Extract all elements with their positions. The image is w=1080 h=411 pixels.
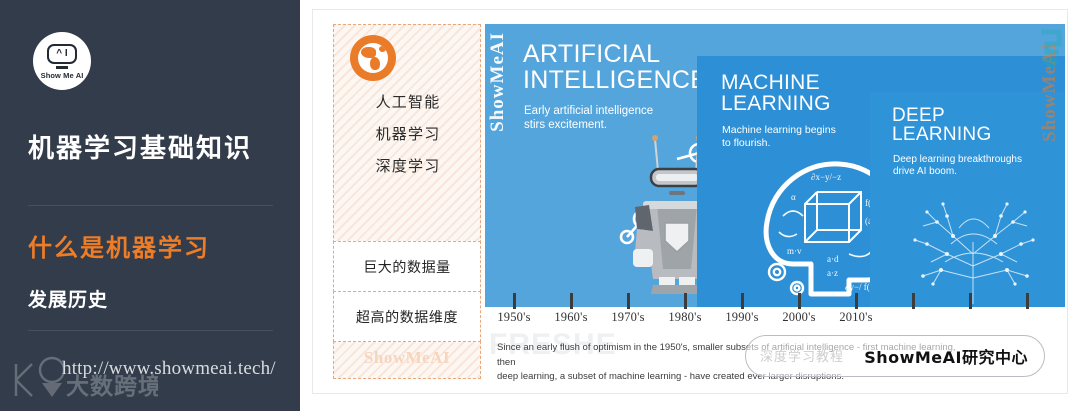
decade-label-1990s: 1990's [725, 310, 758, 325]
axis-tick [627, 293, 630, 309]
axis-tick [570, 293, 573, 309]
logo-eyes-label: ^ I [56, 49, 67, 59]
robot-face-icon: ^ I [47, 44, 77, 64]
concept-word-ai: 人工智能 [334, 91, 482, 112]
robot-mouth-icon [56, 66, 68, 69]
svg-text:∂x−y/−z: ∂x−y/−z [811, 172, 841, 182]
axis-tick [798, 293, 801, 309]
decade-label-1980s: 1980's [668, 310, 701, 325]
svg-text:m·v: m·v [787, 246, 802, 256]
concept-word-dl: 深度学习 [334, 155, 482, 176]
slide-canvas: 人工智能 机器学习 深度学习 巨大的数据量 超高的数据维度 ShowMeAI S… [300, 0, 1080, 411]
sidebar-item-sub-section[interactable]: 发展历史 [28, 285, 108, 312]
axis-tick [912, 293, 915, 309]
axis-tick [741, 293, 744, 309]
decade-axis: 1950's 1960's 1970's 1980's 1990's 2000'… [485, 293, 1065, 329]
site-url-label[interactable]: http://www.showmeai.tech/ [62, 358, 276, 380]
sidebar: ^ I Show Me AI 机器学习基础知识 什么是机器学习 发展历史 大数跨… [0, 0, 300, 411]
show-me-ai-logo[interactable]: ^ I Show Me AI [33, 32, 91, 90]
era-title-dl: DEEP LEARNING [892, 106, 992, 145]
decade-label-2000s: 2000's [782, 310, 815, 325]
era-title-ai: ARTIFICIAL INTELLIGENCE [523, 42, 707, 93]
era-title-ml: MACHINE LEARNING [721, 72, 831, 115]
svg-text:a·z: a·z [827, 268, 838, 278]
sidebar-divider-bottom [28, 330, 273, 331]
data-box-dimension: 超高的数据维度 [333, 291, 481, 342]
research-center-label: ShowMeAI研究中心 [864, 344, 1028, 368]
teal-corner-glyph-icon [1037, 26, 1063, 82]
data-box-volume: 巨大的数据量 [333, 241, 481, 292]
concept-column-watermark: ShowMeAI [333, 348, 481, 368]
watermark-left-showmeai: ShowMeAI [487, 32, 509, 132]
concept-word-ml: 机器学习 [334, 123, 482, 144]
svg-text:a·d: a·d [827, 254, 839, 264]
axis-tick [684, 293, 687, 309]
decade-label-1950s: 1950's [497, 310, 530, 325]
slide-frame: 人工智能 机器学习 深度学习 巨大的数据量 超高的数据维度 ShowMeAI S… [312, 9, 1068, 394]
sidebar-item-current-section[interactable]: 什么是机器学习 [28, 228, 210, 263]
logo-wordmark: Show Me AI [41, 71, 84, 80]
era-subtitle-dl: Deep learning breakthroughs drive AI boo… [893, 154, 1022, 178]
axis-tick [969, 293, 972, 309]
decade-label-2010s: 2010's [839, 310, 872, 325]
svg-text:α: α [791, 192, 796, 202]
neural-brain-icon [903, 192, 1043, 307]
research-center-badge[interactable]: 深度学习教程 ShowMeAI研究中心 [745, 335, 1045, 377]
sidebar-divider-top [28, 205, 273, 206]
decade-label-1960s: 1960's [554, 310, 587, 325]
globe-icon [350, 35, 396, 81]
badge-ghost-label: 深度学习教程 [760, 346, 844, 365]
decade-label-1970s: 1970's [611, 310, 644, 325]
slide-screenshot: ^ I Show Me AI 机器学习基础知识 什么是机器学习 发展历史 大数跨… [0, 0, 1080, 411]
axis-tick [513, 293, 516, 309]
course-title: 机器学习基础知识 [28, 128, 252, 165]
axis-tick [1026, 293, 1029, 309]
axis-tick [855, 293, 858, 309]
